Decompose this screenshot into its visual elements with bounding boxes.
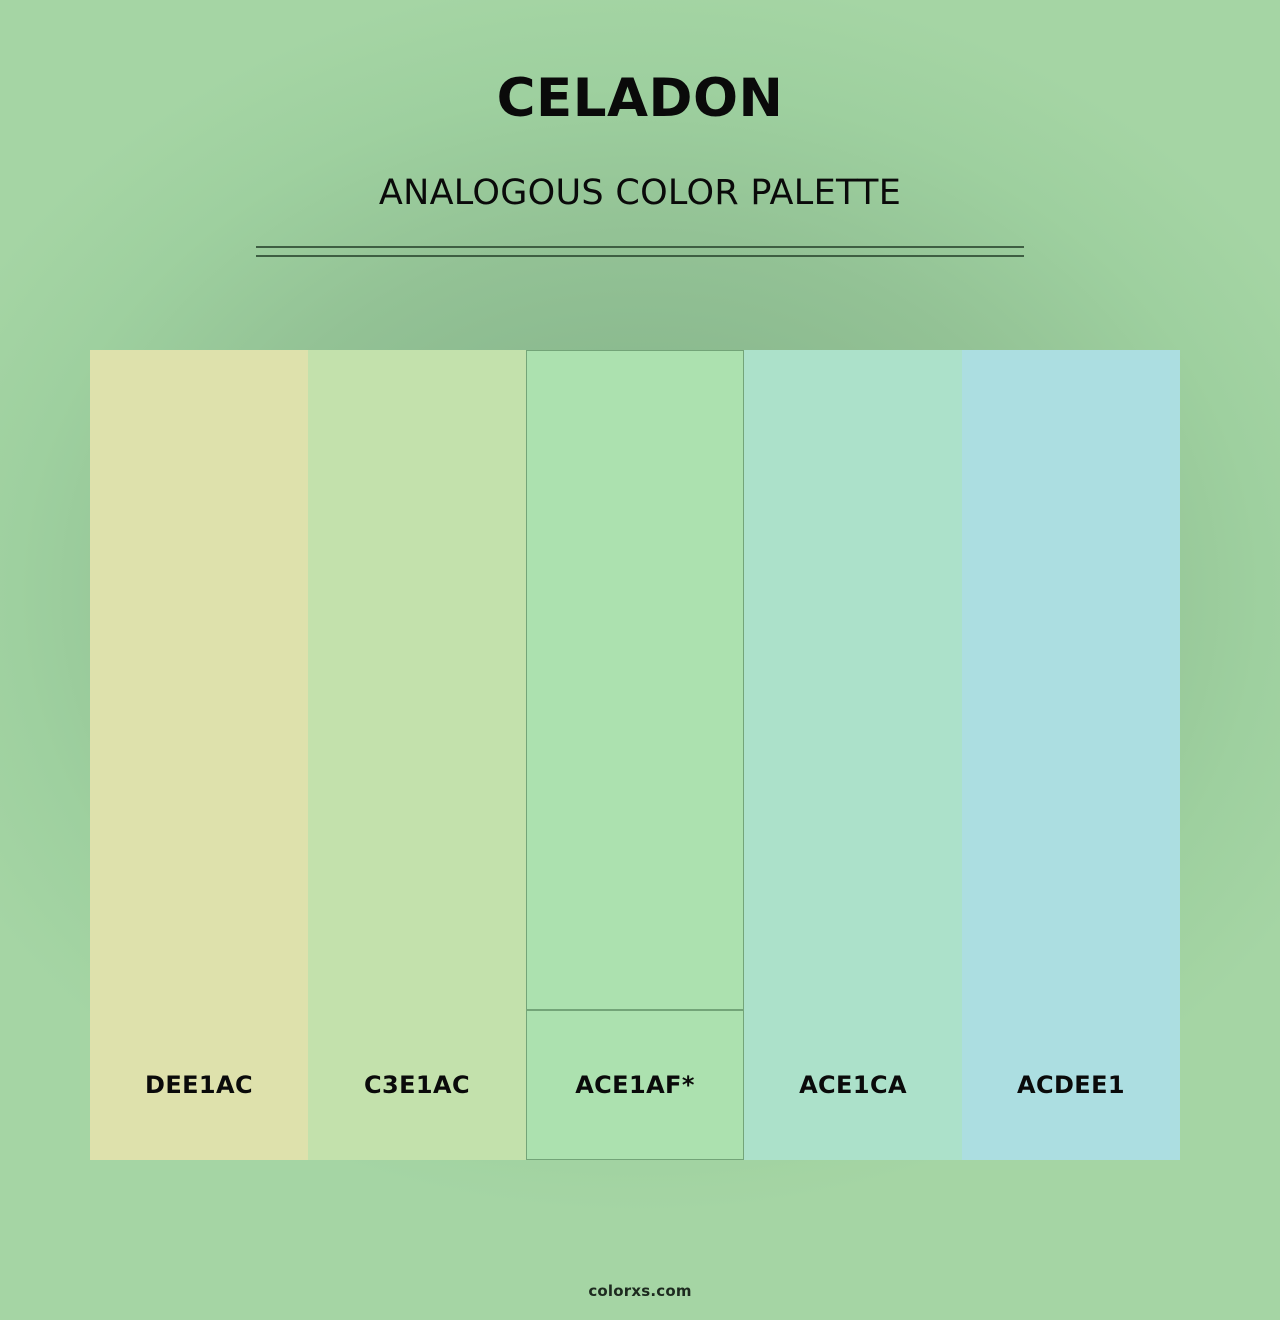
site-credit: colorxs.com — [588, 1282, 691, 1300]
page-footer: colorxs.com — [0, 1281, 1280, 1300]
color-hex-label: DEE1AC — [145, 1071, 253, 1099]
color-label-cell-2[interactable]: C3E1AC — [308, 1010, 526, 1160]
page-title: CELADON — [0, 72, 1280, 125]
page-subtitle: ANALOGOUS COLOR PALETTE — [0, 125, 1280, 213]
color-label-cell-4[interactable]: ACE1CA — [744, 1010, 962, 1160]
header-divider — [256, 246, 1024, 257]
color-hex-label: ACDEE1 — [1017, 1071, 1125, 1099]
color-hex-label: ACE1AF* — [575, 1071, 695, 1099]
swatch-row — [90, 350, 1180, 1010]
color-swatch-4[interactable] — [744, 350, 962, 1010]
color-label-cell-1[interactable]: DEE1AC — [90, 1010, 308, 1160]
page-header: CELADON ANALOGOUS COLOR PALETTE — [0, 0, 1280, 257]
palette-block: DEE1AC C3E1AC ACE1AF* ACE1CA ACDEE1 — [90, 350, 1180, 1160]
color-swatch-3-base[interactable] — [526, 350, 744, 1010]
color-label-cell-5[interactable]: ACDEE1 — [962, 1010, 1180, 1160]
color-hex-label: C3E1AC — [364, 1071, 470, 1099]
color-swatch-5[interactable] — [962, 350, 1180, 1010]
color-swatch-2[interactable] — [308, 350, 526, 1010]
swatch-label-row: DEE1AC C3E1AC ACE1AF* ACE1CA ACDEE1 — [90, 1010, 1180, 1160]
color-swatch-1[interactable] — [90, 350, 308, 1010]
color-hex-label: ACE1CA — [799, 1071, 907, 1099]
color-label-cell-3-base[interactable]: ACE1AF* — [526, 1010, 744, 1160]
color-palette-page: CELADON ANALOGOUS COLOR PALETTE DEE1AC C… — [0, 0, 1280, 1320]
